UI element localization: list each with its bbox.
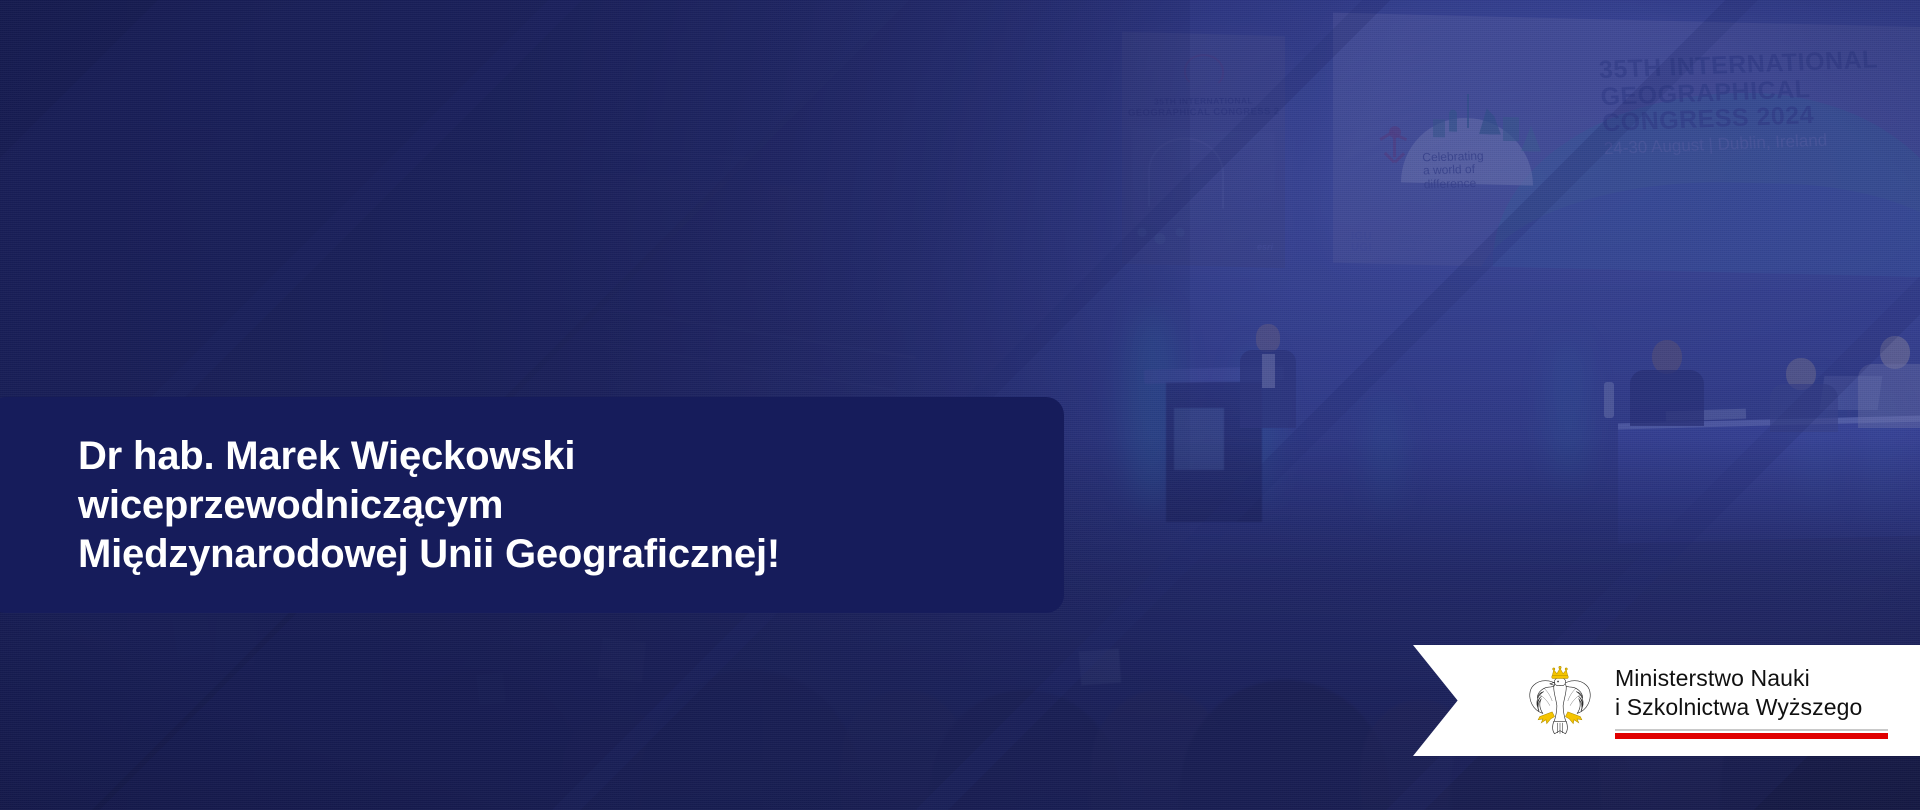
skyline-spire-icon [1467,94,1469,128]
water-bottle [1604,382,1614,418]
left-screen-sponsor-logo: esri [1257,241,1273,251]
person-figure-icon [1375,126,1409,179]
projection-screen-right: Celebrating a world of difference 35TH I… [1333,13,1920,278]
skyline-building-icon [1449,110,1457,132]
ministry-name-line1: Ministerstwo Nauki [1615,664,1888,693]
ministry-name: Ministerstwo Nauki i Szkolnictwa Wyższeg… [1615,662,1888,739]
ministry-name-line2: i Szkolnictwa Wyższego [1615,693,1888,722]
headline-line-3: Międzynarodowej Unii Geograficznej! [78,530,1064,579]
banner-root: 35TH INTERNATIONAL GEOGRAPHICAL CONGRESS… [0,0,1920,810]
partner-line3: Ireland [1399,246,1432,253]
igu-logo-line2: UGI [1351,242,1372,254]
geographical-society-logo: Geographical Society of Ireland [1399,233,1432,253]
polish-flag-rules [1615,729,1888,739]
logo-tagline-line3: difference [1423,176,1520,192]
logo-tagline: Celebrating a world of difference [1422,149,1520,192]
headline-card: Dr hab. Marek Więckowski wiceprzewodnicz… [0,397,1064,613]
congress-wordmark: 35TH INTERNATIONAL GEOGRAPHICAL CONGRESS… [1598,45,1920,159]
polish-eagle-emblem-icon [1521,662,1599,740]
skyline-building-icon [1433,119,1445,137]
left-screen-org-mark: IGU UGI [1244,202,1271,210]
panelist [1770,358,1840,428]
headline-line-2: wiceprzewodniczącym [78,481,1064,530]
skyline-building-icon [1521,125,1541,151]
grey-rule [1615,729,1888,731]
skyline-building-icon [1503,117,1519,141]
panelist [1628,340,1706,424]
panelist [1858,336,1920,428]
ministry-ribbon: Ministerstwo Nauki i Szkolnictwa Wyższeg… [1413,645,1920,756]
headline-line-1: Dr hab. Marek Więckowski [78,432,1064,481]
speaker-at-podium [1238,324,1298,428]
igu-ugi-logo: IGU UGI [1351,231,1372,254]
red-rule [1615,733,1888,739]
celebrating-world-logo: Celebrating a world of difference [1375,92,1571,197]
